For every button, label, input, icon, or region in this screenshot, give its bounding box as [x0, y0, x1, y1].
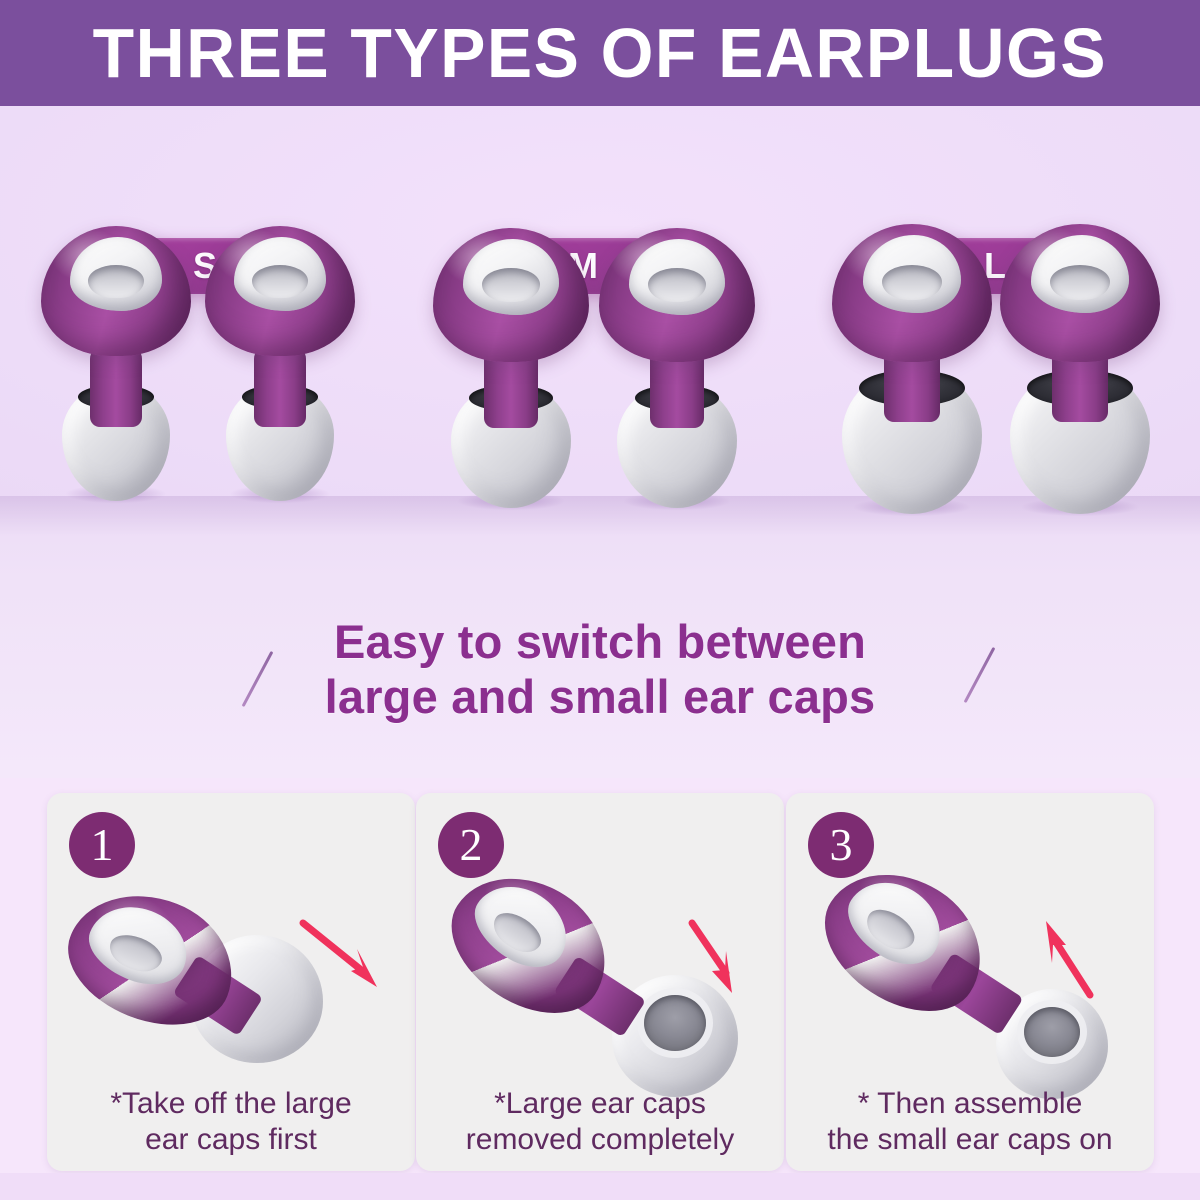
step-2-caption-line-1: *Large ear caps	[426, 1086, 774, 1121]
page-title: THREE TYPES OF EARPLUGS	[93, 18, 1107, 88]
infographic-page: THREE TYPES OF EARPLUGS S M L	[0, 0, 1200, 1200]
fin-hole	[482, 268, 540, 302]
fin-hole	[860, 902, 921, 957]
ear-fin	[629, 239, 725, 315]
step-3-caption: * Then assemble the small ear caps on	[786, 1086, 1154, 1157]
fin-hole	[1050, 265, 1110, 300]
step-3-arrow-icon	[1032, 915, 1110, 1005]
earplug-body	[1000, 224, 1160, 362]
step-1-caption: *Take off the large ear caps first	[47, 1086, 415, 1157]
fin-hole	[88, 265, 144, 298]
step-2-caption-line-2: removed completely	[426, 1122, 774, 1157]
steps-section: 1	[0, 793, 1200, 1173]
tagline-line-1: Easy to switch between	[325, 615, 876, 670]
step-1-caption-line-2: ear caps first	[57, 1122, 405, 1157]
step-1-caption-line-1: *Take off the large	[57, 1086, 405, 1121]
earplug-stem	[254, 345, 306, 427]
step-3-caption-line-2: the small ear caps on	[796, 1122, 1144, 1157]
ear-fin	[234, 237, 326, 311]
earplug-body	[41, 226, 191, 356]
tagline-section: Easy to switch between large and small e…	[0, 600, 1200, 740]
step-number-1: 1	[91, 822, 114, 868]
tagline-line-2: large and small ear caps	[325, 670, 876, 725]
page-bottom-edge	[0, 1173, 1200, 1200]
earplug-small-right	[200, 226, 360, 501]
ear-fin	[462, 870, 582, 982]
step-panel-1[interactable]: 1	[47, 793, 415, 1171]
fin-hole	[648, 268, 706, 302]
fin-hole	[105, 928, 167, 977]
earplug-large-left	[824, 224, 1000, 514]
header-banner: THREE TYPES OF EARPLUGS	[0, 0, 1200, 106]
earplug-medium-right	[594, 228, 760, 508]
step-panel-3[interactable]: 3	[786, 793, 1154, 1171]
tagline-text: Easy to switch between large and small e…	[325, 615, 876, 725]
earplug-body	[205, 226, 355, 356]
ear-fin	[79, 893, 198, 996]
step-panel-2[interactable]: 2	[416, 793, 784, 1171]
earplug-stem	[90, 345, 142, 427]
earplug-body	[433, 228, 589, 362]
earplug-body	[832, 224, 992, 362]
step-1-arrow-icon	[295, 915, 387, 997]
earplug-body-group	[48, 872, 296, 1072]
fin-hole	[882, 265, 942, 300]
step-number-3: 3	[830, 822, 853, 868]
earplug-large-right	[992, 224, 1168, 514]
step-number-badge-1: 1	[69, 812, 135, 878]
step-2-arrow-icon	[680, 915, 754, 1001]
earplug-medium-left	[428, 228, 594, 508]
fin-hole	[252, 265, 308, 298]
ear-fin	[463, 239, 559, 315]
ear-fin	[835, 865, 956, 979]
earplug-small-left	[36, 226, 196, 501]
fin-hole	[487, 906, 547, 960]
step-2-caption: *Large ear caps removed completely	[416, 1086, 784, 1157]
step-number-2: 2	[460, 822, 483, 868]
step-3-caption-line-1: * Then assemble	[796, 1086, 1144, 1121]
ear-fin	[1031, 235, 1129, 313]
earplug-body	[599, 228, 755, 362]
ear-fin	[70, 237, 162, 311]
ear-fin	[863, 235, 961, 313]
